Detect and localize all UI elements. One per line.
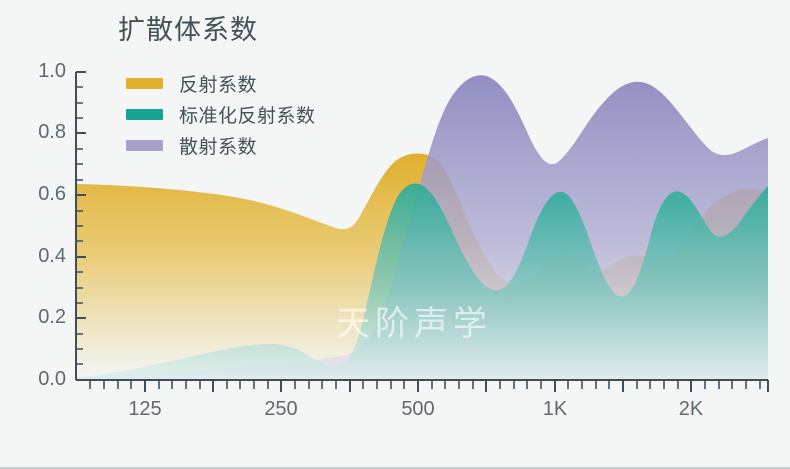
axis-x	[76, 380, 768, 392]
x-tick-label-2k: 2K	[661, 398, 721, 421]
x-tick-label-250: 250	[251, 398, 311, 421]
x-tick-label-125: 125	[115, 398, 175, 421]
legend-swatch-normalized-reflection	[126, 109, 163, 120]
y-tick-label-5: 0.2	[18, 306, 66, 329]
legend-label-scattering: 散射系数	[179, 132, 257, 159]
legend-item-reflection[interactable]: 反射系数	[126, 72, 316, 94]
y-tick-label-2: 0.8	[18, 121, 66, 144]
y-tick-label-6: 0.0	[18, 368, 66, 391]
chart-container: 扩散体系数	[0, 0, 790, 469]
y-tick-label-4: 0.4	[18, 245, 66, 268]
y-tick-label-3: 0.6	[18, 183, 66, 206]
x-tick-label-500: 500	[388, 398, 448, 421]
x-tick-label-1k: 1K	[525, 398, 585, 421]
legend-label-normalized-reflection: 标准化反射系数	[179, 101, 316, 128]
legend-item-normalized-reflection[interactable]: 标准化反射系数	[126, 103, 316, 125]
legend-swatch-reflection	[126, 78, 163, 89]
legend-swatch-scattering	[126, 140, 163, 151]
legend-label-reflection: 反射系数	[179, 70, 257, 97]
chart-legend: 反射系数 标准化反射系数 散射系数	[126, 72, 316, 156]
y-tick-label-1: 1.0	[18, 60, 66, 83]
legend-item-scattering[interactable]: 散射系数	[126, 134, 316, 156]
